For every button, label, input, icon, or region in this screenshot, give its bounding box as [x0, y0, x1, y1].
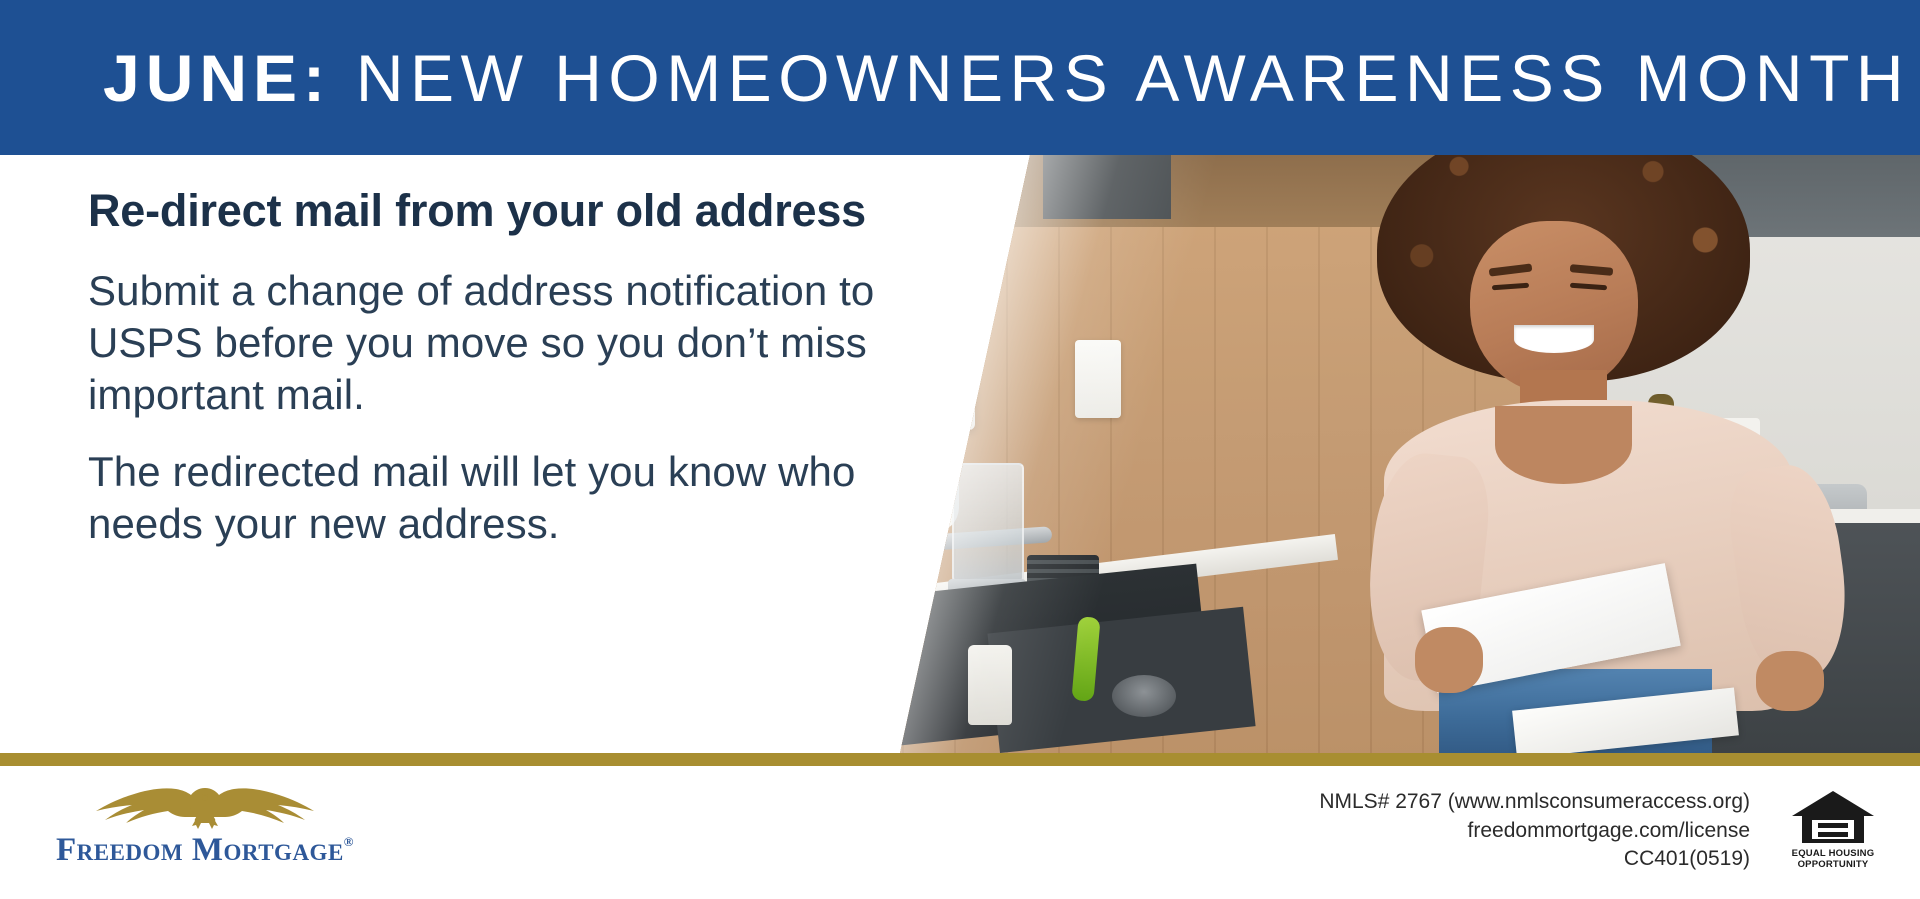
equal-housing-caption: EQUAL HOUSING OPPORTUNITY [1790, 849, 1876, 870]
hand-right [1756, 651, 1824, 711]
wall-switch [1075, 340, 1121, 418]
freedom-mortgage-wordmark: Freedom Mortgage® [55, 834, 355, 867]
kitchen-photo [850, 155, 1920, 753]
intercom-handset [895, 436, 959, 533]
eho-line-2: OPPORTUNITY [1790, 860, 1876, 871]
text-column: Re-direct mail from your old address Sub… [88, 155, 898, 753]
body-paragraph-2: The redirected mail will let you know wh… [88, 446, 878, 550]
footer: Freedom Mortgage® NMLS# 2767 (www.nmlsco… [0, 766, 1920, 899]
brand-name: Freedom Mortgage [56, 832, 344, 868]
intercom-button [917, 384, 937, 404]
smile-teeth [1514, 325, 1595, 353]
marketing-flyer: JUNE: NEW HOMEOWNERS AWARENESS MONTH [0, 0, 1920, 899]
banner-title-text: NEW HOMEOWNERS AWARENESS MONTH [356, 41, 1910, 115]
sink-drain [1112, 675, 1176, 717]
intercom-screen [906, 334, 948, 366]
blender-jug [952, 463, 1024, 585]
hero-photo-panel [850, 155, 1920, 753]
main-stage: Re-direct mail from your old address Sub… [0, 155, 1920, 753]
headline: Re-direct mail from your old address [88, 187, 898, 234]
banner-month-prefix: JUNE: [103, 41, 331, 115]
soap-bottle [968, 645, 1012, 725]
freedom-mortgage-logo[interactable]: Freedom Mortgage® [55, 776, 355, 882]
equal-housing-logo: EQUAL HOUSING OPPORTUNITY [1790, 789, 1876, 871]
header-banner: JUNE: NEW HOMEOWNERS AWARENESS MONTH [0, 0, 1920, 155]
blouse-neckline [1495, 406, 1632, 484]
face [1470, 221, 1638, 394]
gold-divider-rule [0, 753, 1920, 766]
shelf-recess [1043, 155, 1171, 219]
hand-left [1415, 627, 1483, 693]
woman-figure [1278, 155, 1899, 753]
legal-disclosure: NMLS# 2767 (www.nmlsconsumeraccess.org) … [1110, 788, 1750, 874]
legal-line-nmls[interactable]: NMLS# 2767 (www.nmlsconsumeraccess.org) [1110, 788, 1750, 817]
eagle-icon [55, 776, 355, 838]
body-paragraph-1: Submit a change of address notification … [88, 265, 878, 421]
legal-line-license-url[interactable]: freedommortgage.com/license [1110, 817, 1750, 846]
registered-mark: ® [344, 834, 354, 849]
legal-line-doc-code: CC401(0519) [1110, 845, 1750, 874]
intercom-panel [893, 322, 975, 430]
equal-housing-house-icon [1790, 789, 1876, 847]
banner-title: JUNE: NEW HOMEOWNERS AWARENESS MONTH [103, 45, 1910, 111]
